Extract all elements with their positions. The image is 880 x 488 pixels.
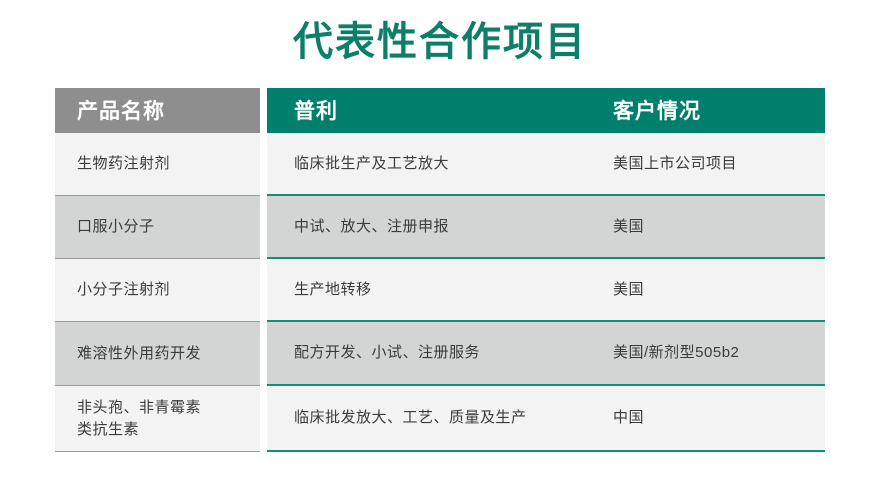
cell-text-client: 美国上市公司项目 <box>613 153 737 175</box>
page-title: 代表性合作项目 <box>0 18 880 66</box>
cell-text-detail: 临床批生产及工艺放大 <box>294 153 449 175</box>
cell-product: 小分子注射剂 <box>55 259 260 322</box>
column-gap <box>260 196 267 259</box>
cell-detail: 中试、放大、注册申报 <box>267 196 597 257</box>
column-gap <box>260 133 267 196</box>
cell-detail: 配方开发、小试、注册服务 <box>267 322 597 384</box>
cell-detail: 临床批生产及工艺放大 <box>267 133 597 194</box>
cell-text-detail: 生产地转移 <box>294 279 372 301</box>
header-cell-client: 客户情况 <box>597 88 825 133</box>
table-row: 非头孢、非青霉素 类抗生素 临床批发放大、工艺、质量及生产 中国 <box>55 386 825 452</box>
cell-product: 难溶性外用药开发 <box>55 322 260 386</box>
row-right-block: 配方开发、小试、注册服务 美国/新剂型505b2 <box>267 322 825 386</box>
cell-text-detail: 中试、放大、注册申报 <box>294 216 449 238</box>
cell-product: 生物药注射剂 <box>55 133 260 196</box>
cell-text-product: 难溶性外用药开发 <box>77 343 201 365</box>
table-row: 口服小分子 中试、放大、注册申报 美国 <box>55 196 825 259</box>
cell-text-detail: 配方开发、小试、注册服务 <box>294 342 480 364</box>
header-label-client: 客户情况 <box>613 98 701 124</box>
table-row: 生物药注射剂 临床批生产及工艺放大 美国上市公司项目 <box>55 133 825 196</box>
column-gap <box>260 88 267 133</box>
cell-text-detail: 临床批发放大、工艺、质量及生产 <box>294 407 527 429</box>
column-gap <box>260 386 267 452</box>
table-row: 难溶性外用药开发 配方开发、小试、注册服务 美国/新剂型505b2 <box>55 322 825 386</box>
row-right-block: 临床批发放大、工艺、质量及生产 中国 <box>267 386 825 452</box>
slide-page: 代表性合作项目 产品名称 普利 客户情况 生物药注射剂 <box>0 0 880 488</box>
table-header-row: 产品名称 普利 客户情况 <box>55 88 825 133</box>
cell-text-product: 生物药注射剂 <box>77 153 170 175</box>
partnership-table: 产品名称 普利 客户情况 生物药注射剂 临床批生产及工艺放大 <box>55 88 825 453</box>
cell-product: 口服小分子 <box>55 196 260 259</box>
header-cell-detail: 普利 <box>267 88 597 133</box>
cell-client: 美国 <box>597 196 825 257</box>
row-right-block: 中试、放大、注册申报 美国 <box>267 196 825 259</box>
cell-client: 美国/新剂型505b2 <box>597 322 825 384</box>
cell-text-product: 小分子注射剂 <box>77 279 170 301</box>
cell-product: 非头孢、非青霉素 类抗生素 <box>55 386 260 452</box>
cell-client: 中国 <box>597 386 825 450</box>
cell-text-client: 美国 <box>613 279 644 301</box>
row-right-block: 临床批生产及工艺放大 美国上市公司项目 <box>267 133 825 196</box>
header-right-block: 普利 客户情况 <box>267 88 825 133</box>
row-right-block: 生产地转移 美国 <box>267 259 825 322</box>
cell-text-client: 中国 <box>613 407 644 429</box>
column-gap <box>260 259 267 322</box>
cell-detail: 临床批发放大、工艺、质量及生产 <box>267 386 597 450</box>
cell-client: 美国上市公司项目 <box>597 133 825 194</box>
cell-detail: 生产地转移 <box>267 259 597 320</box>
header-cell-product: 产品名称 <box>55 88 260 133</box>
cell-text-client: 美国 <box>613 216 644 238</box>
column-gap <box>260 322 267 386</box>
header-label-product: 产品名称 <box>77 98 165 124</box>
cell-client: 美国 <box>597 259 825 320</box>
cell-text-product: 非头孢、非青霉素 类抗生素 <box>77 397 201 441</box>
cell-text-client: 美国/新剂型505b2 <box>613 342 739 364</box>
table-row: 小分子注射剂 生产地转移 美国 <box>55 259 825 322</box>
cell-text-product: 口服小分子 <box>77 216 155 238</box>
header-label-detail: 普利 <box>294 98 338 124</box>
